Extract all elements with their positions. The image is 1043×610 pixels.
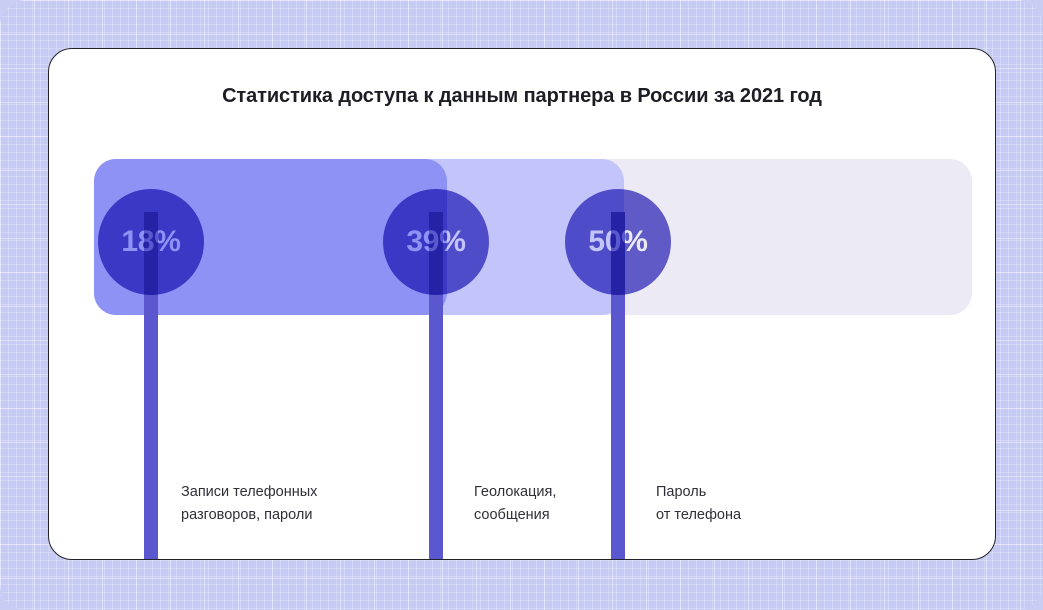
pin-value-label-2: 39% [406, 225, 465, 259]
category-caption-3: Пароль от телефона [656, 481, 816, 527]
chart-card: Статистика доступа к данным партнера в Р… [48, 48, 996, 560]
pin-bubble-1: 18% [98, 189, 204, 295]
background-bands [94, 159, 972, 315]
category-caption-1: Записи телефонных разговоров, пароли [181, 481, 396, 527]
pin-bubble-2: 39% [383, 189, 489, 295]
category-caption-2: Геолокация, сообщения [474, 481, 634, 527]
infographic-page: Статистика доступа к данным партнера в Р… [0, 0, 1043, 610]
pin-value-label-1: 18% [121, 225, 180, 259]
chart-title: Статистика доступа к данным партнера в Р… [49, 85, 995, 108]
pin-value-label-3: 50% [588, 225, 647, 259]
pin-bubble-3: 50% [565, 189, 671, 295]
